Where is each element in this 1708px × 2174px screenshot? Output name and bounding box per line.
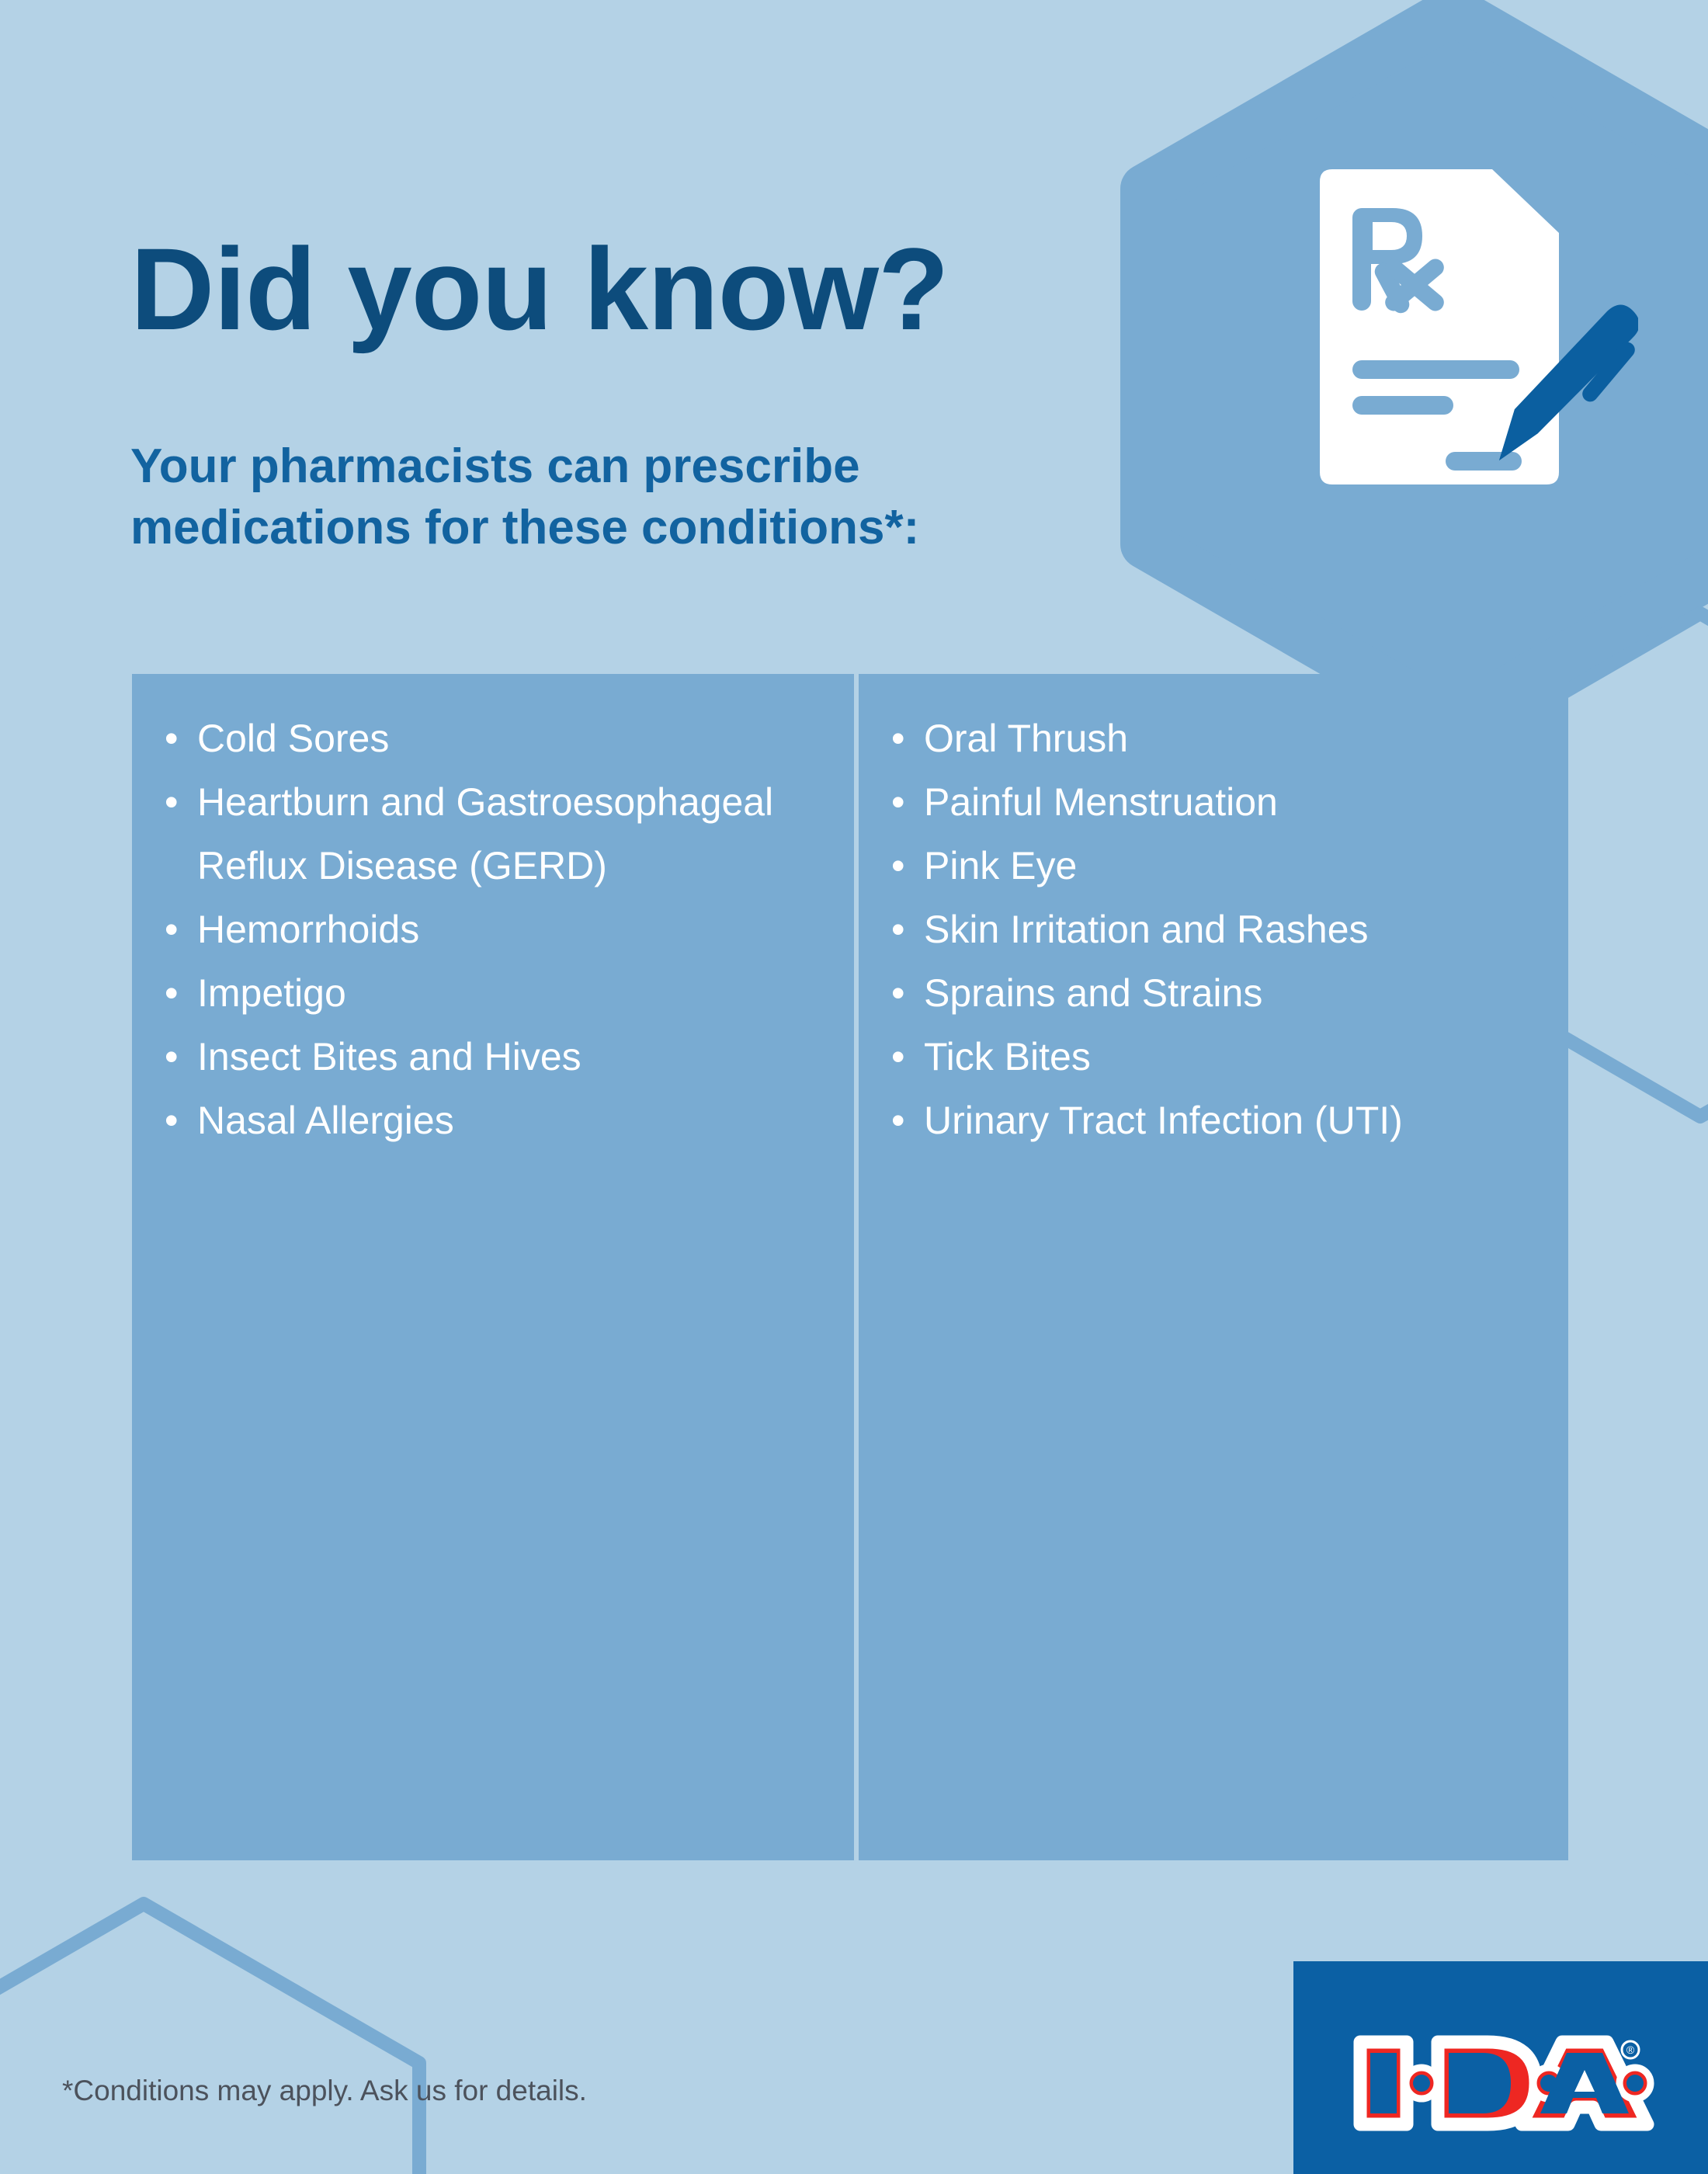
- ida-dot-1-counter: [1413, 2075, 1430, 2092]
- page-subtitle: Your pharmacists can prescribe medicatio…: [130, 436, 1109, 558]
- ida-d-counter: [1449, 2053, 1511, 2113]
- rx-prescription-document-icon: [1312, 152, 1638, 502]
- list-item: Painful Menstruation: [887, 770, 1540, 834]
- list-item: Heartburn and Gastroesophageal Reflux Di…: [160, 770, 826, 898]
- list-item: Pink Eye: [887, 834, 1540, 898]
- list-item: Impetigo: [160, 961, 826, 1025]
- conditions-list-right: Oral Thrush Painful Menstruation Pink Ey…: [887, 707, 1540, 1152]
- list-item: Sprains and Strains: [887, 961, 1540, 1025]
- ida-dot-3-counter: [1626, 2075, 1644, 2092]
- conditions-column-right: Oral Thrush Painful Menstruation Pink Ey…: [859, 674, 1568, 1860]
- poster-canvas: Did you know? Your pharmacists can presc…: [0, 0, 1708, 2174]
- registered-trademark-icon: ®: [1622, 2041, 1639, 2058]
- document-line-2: [1352, 396, 1453, 415]
- ida-dot-2-counter: [1540, 2075, 1557, 2092]
- list-item: Tick Bites: [887, 1025, 1540, 1089]
- subtitle-line-1: Your pharmacists can prescribe: [130, 436, 1109, 498]
- conditions-columns: Cold Sores Heartburn and Gastroesophagea…: [132, 674, 1568, 1860]
- conditions-list-left: Cold Sores Heartburn and Gastroesophagea…: [160, 707, 826, 1152]
- document-line-1: [1352, 360, 1519, 379]
- ida-logo-icon: ®: [1351, 2033, 1655, 2134]
- conditions-column-left: Cold Sores Heartburn and Gastroesophagea…: [132, 674, 854, 1860]
- ida-i-counter: [1370, 2053, 1397, 2113]
- list-item: Insect Bites and Hives: [160, 1025, 826, 1089]
- list-item: Skin Irritation and Rashes: [887, 898, 1540, 961]
- subtitle-line-2: medications for these conditions*:: [130, 498, 1109, 559]
- svg-text:®: ®: [1626, 2044, 1635, 2056]
- ida-logo-block: ®: [1293, 1961, 1708, 2174]
- page-title: Did you know?: [130, 231, 949, 347]
- hexagon-outline-shape-bottom-left: [0, 1904, 419, 2174]
- footnote-text: *Conditions may apply. Ask us for detail…: [62, 2075, 587, 2107]
- list-item: Urinary Tract Infection (UTI): [887, 1089, 1540, 1152]
- document-signature-line: [1446, 452, 1522, 471]
- list-item: Nasal Allergies: [160, 1089, 826, 1152]
- list-item: Hemorrhoids: [160, 898, 826, 961]
- list-item: Oral Thrush: [887, 707, 1540, 770]
- list-item: Cold Sores: [160, 707, 826, 770]
